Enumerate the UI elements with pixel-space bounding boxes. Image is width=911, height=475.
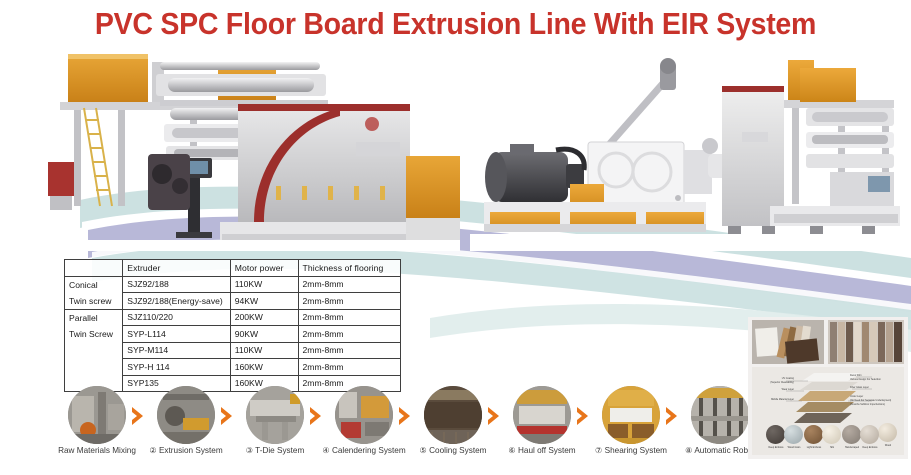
table-row: Conical SJZ92/188 110KW 2mm-8mm <box>65 276 401 293</box>
process-step-6[interactable]: ⑥ Haul off System <box>511 386 573 444</box>
process-step-number: ④ <box>322 446 329 455</box>
poster-canvas: PVC SPC Floor Board Extrusion Line With … <box>0 0 911 475</box>
process-step-photo-automatic-robot <box>691 386 749 444</box>
flow-arrow-icon <box>487 406 500 426</box>
process-step-photo-shearing-system <box>602 386 660 444</box>
cell-motor-power: 110KW <box>230 342 298 359</box>
product-photo-plank-samples <box>828 320 904 364</box>
process-step-3[interactable]: ③ T-Die System <box>244 386 306 444</box>
flow-arrow-icon <box>576 406 589 426</box>
surface-swatch-light-emboss <box>804 425 823 444</box>
cell-motor-power: 160KW <box>230 359 298 376</box>
product-photo-board-stack <box>752 320 824 364</box>
header-cell-thickness: Thickness of flooring <box>298 260 400 277</box>
surface-swatch-label: Deep Emboss <box>853 446 887 449</box>
flow-arrow-icon <box>220 406 233 426</box>
table-row: Parallel SJZ110/220 200KW 2mm-8mm <box>65 309 401 326</box>
process-step-number: ③ <box>246 446 253 455</box>
layer-label-under-layer-sub2: (Absorbs Subfloor Imperfections) <box>850 403 885 406</box>
table-header-row: Extruder Motor power Thickness of floori… <box>65 260 401 277</box>
process-step-8[interactable]: ⑧ Automatic Robot <box>689 386 751 444</box>
flow-arrow-icon <box>309 406 322 426</box>
process-step-label: Haul off System <box>518 446 576 455</box>
cell-extruder: SJZ92/188(Energy-save) <box>123 293 230 310</box>
cell-thickness: 2mm-8mm <box>298 342 400 359</box>
layer-label-under-layer-sub1: (No Need For Separate Underlayment) <box>850 399 891 402</box>
process-step-label: Automatic Robot <box>694 446 755 455</box>
cell-motor-power: 200KW <box>230 309 298 326</box>
surface-swatch-silk <box>822 425 841 444</box>
layer-label-uv-coating-sub: (Superior Cleanability) <box>752 381 794 384</box>
flow-arrow-icon <box>131 406 144 426</box>
surface-swatch-label: Silk <box>815 446 849 449</box>
surface-swatch-deep-emboss <box>766 425 785 444</box>
process-step-label: Raw Materials Mixing <box>58 446 136 455</box>
process-step-number: ② <box>149 446 156 455</box>
process-step-label: Extrusion System <box>159 446 223 455</box>
process-step-number: ⑦ <box>595 446 602 455</box>
layer-label-fiber-glass: Fiber Glass Layer <box>850 386 869 389</box>
surface-swatch-wood-grain <box>784 425 803 444</box>
process-step-5[interactable]: ⑤ Cooling System <box>422 386 484 444</box>
table-row: SYP-H 114 160KW 2mm-8mm <box>65 359 401 376</box>
group-label-parallel: Parallel <box>65 309 123 326</box>
layer-label-middle-material: Middle Material Layer <box>752 398 794 401</box>
header-cell-blank <box>65 260 123 277</box>
table-row: Twin screw SJZ92/188(Energy-save) 94KW 2… <box>65 293 401 310</box>
process-step-2[interactable]: ② Extrusion System <box>155 386 217 444</box>
process-step-number: ⑤ <box>420 446 427 455</box>
process-step-photo-extrusion-system <box>157 386 215 444</box>
cell-thickness: 2mm-8mm <box>298 309 400 326</box>
process-step-label: Cooling System <box>429 446 486 455</box>
layer-label-wear-layer: Wear Layer <box>762 388 794 391</box>
header-cell-extruder: Extruder <box>123 260 230 277</box>
group-label-twin-screw: Twin screw <box>65 293 123 310</box>
flow-arrow-icon <box>665 406 678 426</box>
cell-extruder: SYP-H 114 <box>123 359 230 376</box>
cell-motor-power: 90KW <box>230 326 298 343</box>
process-step-1[interactable]: Raw Materials Mixing <box>66 386 128 444</box>
group-label-conical: Conical <box>65 276 123 293</box>
spec-table-body: Extruder Motor power Thickness of floori… <box>65 260 401 392</box>
surface-swatch-handscraped <box>842 425 861 444</box>
header-cell-motor-power: Motor power <box>230 260 298 277</box>
machine-photo-right <box>470 46 900 251</box>
cell-thickness: 2mm-8mm <box>298 359 400 376</box>
group-label-empty <box>65 342 123 359</box>
flow-arrow-icon <box>398 406 411 426</box>
process-step-photo-cooling-system <box>424 386 482 444</box>
process-step-label: T-Die System <box>255 446 304 455</box>
process-step-7[interactable]: ⑦ Shearing System <box>600 386 662 444</box>
layer-label-decor-film: Decor Film <box>850 374 862 377</box>
process-step-number: ⑥ <box>508 446 515 455</box>
process-step-photo-calendering-system <box>335 386 393 444</box>
specification-table: Extruder Motor power Thickness of floori… <box>64 259 401 392</box>
cell-thickness: 2mm-8mm <box>298 276 400 293</box>
machine-photo-left <box>40 46 460 251</box>
process-step-label: Calendering System <box>332 446 406 455</box>
process-step-4[interactable]: ④ Calendering System <box>333 386 395 444</box>
process-step-number: ⑧ <box>685 446 692 455</box>
layer-label-uv-coating: UV Coating <box>758 377 794 380</box>
process-step-photo-haul-off-system <box>513 386 571 444</box>
cell-motor-power: 110KW <box>230 276 298 293</box>
cell-extruder: SYP-M114 <box>123 342 230 359</box>
product-sample-panel: UV Coating (Superior Cleanability) Wear … <box>748 317 908 459</box>
surface-swatch-wood <box>878 423 897 442</box>
surface-swatch-deep-emboss-2 <box>860 425 879 444</box>
layer-label-under-layer: Under Layer <box>850 395 863 398</box>
cell-thickness: 2mm-8mm <box>298 326 400 343</box>
group-label-empty <box>65 359 123 376</box>
group-label-twin-screw-2: Twin Screw <box>65 326 123 343</box>
surface-swatch-label: Wood Grain <box>777 446 811 449</box>
process-step-photo-raw-materials-mixing <box>68 386 126 444</box>
layer-label-decor-film-sub: Various Design For Selection <box>850 378 881 381</box>
cell-thickness: 2mm-8mm <box>298 293 400 310</box>
table-row: Twin Screw SYP-L114 90KW 2mm-8mm <box>65 326 401 343</box>
cell-extruder: SYP-L114 <box>123 326 230 343</box>
machine-photo-band <box>0 46 911 251</box>
process-step-photo-t-die-system <box>246 386 304 444</box>
table-row: SYP-M114 110KW 2mm-8mm <box>65 342 401 359</box>
cell-extruder: SJZ110/220 <box>123 309 230 326</box>
page-title: PVC SPC Floor Board Extrusion Line With … <box>36 6 874 42</box>
cell-extruder: SJZ92/188 <box>123 276 230 293</box>
cell-motor-power: 94KW <box>230 293 298 310</box>
process-step-label: Shearing System <box>605 446 667 455</box>
